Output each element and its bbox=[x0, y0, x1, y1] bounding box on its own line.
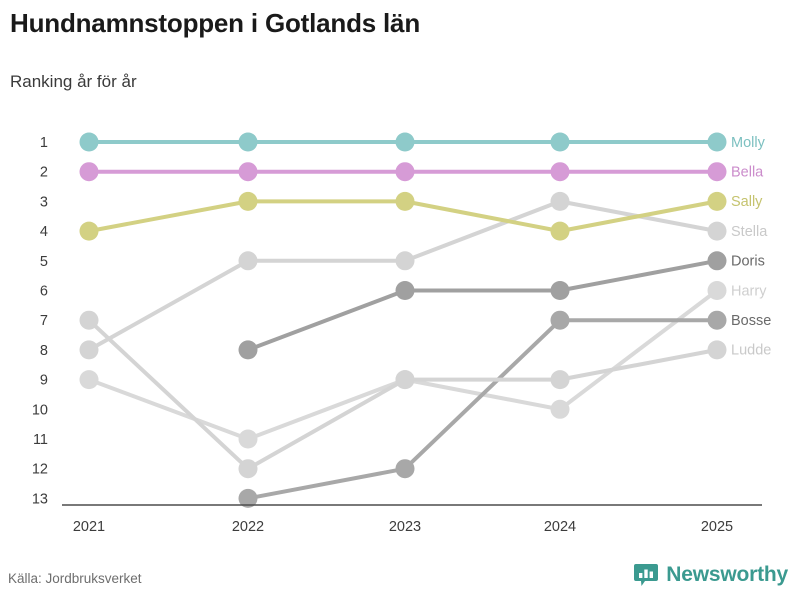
chart-canvas: 12345678910111213 StellaDorisHarryBosseL… bbox=[0, 0, 800, 600]
data-point-bella-2023[interactable] bbox=[396, 162, 415, 181]
data-point-sally-2021[interactable] bbox=[80, 222, 99, 241]
x-axis-tick-2023: 2023 bbox=[389, 519, 421, 535]
data-point-ludde-2025[interactable] bbox=[708, 340, 727, 359]
legend-label-stella[interactable]: Stella bbox=[731, 224, 768, 240]
data-point-bella-2025[interactable] bbox=[708, 162, 727, 181]
data-point-doris-2022[interactable] bbox=[239, 340, 258, 359]
x-axis-tick-2024: 2024 bbox=[544, 519, 576, 535]
y-axis-tick-3: 3 bbox=[40, 194, 48, 210]
y-axis-tick-6: 6 bbox=[40, 284, 48, 300]
data-point-sally-2022[interactable] bbox=[239, 192, 258, 211]
legend-label-bella[interactable]: Bella bbox=[731, 165, 764, 181]
series-line-harry bbox=[89, 291, 717, 440]
data-point-harry-2022[interactable] bbox=[239, 430, 258, 449]
data-point-ludde-2021[interactable] bbox=[80, 311, 99, 330]
bar-chart-bubble-icon bbox=[633, 562, 659, 588]
data-point-molly-2021[interactable] bbox=[80, 133, 99, 152]
legend-label-ludde[interactable]: Ludde bbox=[731, 343, 771, 359]
data-point-doris-2024[interactable] bbox=[551, 281, 570, 300]
data-point-doris-2025[interactable] bbox=[708, 251, 727, 270]
data-point-stella-2025[interactable] bbox=[708, 222, 727, 241]
y-axis-tick-5: 5 bbox=[40, 254, 48, 270]
y-axis-tick-9: 9 bbox=[40, 373, 48, 389]
legend-label-bosse[interactable]: Bosse bbox=[731, 313, 771, 329]
legend-label-doris[interactable]: Doris bbox=[731, 254, 765, 270]
data-point-sally-2024[interactable] bbox=[551, 222, 570, 241]
y-axis-tick-8: 8 bbox=[40, 343, 48, 359]
series-line-bosse bbox=[248, 320, 717, 498]
data-point-stella-2022[interactable] bbox=[239, 251, 258, 270]
legend-label-molly[interactable]: Molly bbox=[731, 135, 766, 151]
y-axis-tick-12: 12 bbox=[32, 462, 48, 478]
x-axis-tick-2021: 2021 bbox=[73, 519, 105, 535]
data-point-harry-2021[interactable] bbox=[80, 370, 99, 389]
legend-label-harry[interactable]: Harry bbox=[731, 283, 767, 299]
y-axis-tick-labels: 12345678910111213 bbox=[32, 135, 48, 507]
data-point-molly-2024[interactable] bbox=[551, 133, 570, 152]
data-point-bella-2022[interactable] bbox=[239, 162, 258, 181]
brand-name: Newsworthy bbox=[666, 563, 788, 587]
data-point-molly-2023[interactable] bbox=[396, 133, 415, 152]
y-axis-tick-10: 10 bbox=[32, 402, 48, 418]
data-point-molly-2022[interactable] bbox=[239, 133, 258, 152]
data-point-stella-2023[interactable] bbox=[396, 251, 415, 270]
data-point-bella-2024[interactable] bbox=[551, 162, 570, 181]
series-line-ludde bbox=[89, 320, 717, 469]
data-point-ludde-2022[interactable] bbox=[239, 459, 258, 478]
data-point-harry-2024[interactable] bbox=[551, 400, 570, 419]
data-point-doris-2023[interactable] bbox=[396, 281, 415, 300]
x-axis-tick-2022: 2022 bbox=[232, 519, 264, 535]
y-axis-tick-11: 11 bbox=[33, 432, 48, 448]
data-point-molly-2025[interactable] bbox=[708, 133, 727, 152]
series-line-doris bbox=[248, 261, 717, 350]
data-point-sally-2025[interactable] bbox=[708, 192, 727, 211]
y-axis-tick-1: 1 bbox=[40, 135, 48, 151]
y-axis-tick-7: 7 bbox=[40, 313, 48, 329]
y-axis-tick-13: 13 bbox=[32, 491, 48, 507]
data-point-ludde-2024[interactable] bbox=[551, 370, 570, 389]
series-line-stella bbox=[89, 201, 717, 350]
legend-label-sally[interactable]: Sally bbox=[731, 194, 763, 210]
x-axis-tick-2025: 2025 bbox=[701, 519, 733, 535]
source-note: Källa: Jordbruksverket bbox=[8, 571, 142, 586]
y-axis-tick-4: 4 bbox=[40, 224, 48, 240]
data-point-ludde-2023[interactable] bbox=[396, 370, 415, 389]
data-point-stella-2024[interactable] bbox=[551, 192, 570, 211]
data-point-bosse-2023[interactable] bbox=[396, 459, 415, 478]
newsworthy-logo: Newsworthy bbox=[633, 562, 788, 588]
data-point-sally-2023[interactable] bbox=[396, 192, 415, 211]
data-point-harry-2025[interactable] bbox=[708, 281, 727, 300]
data-point-bosse-2024[interactable] bbox=[551, 311, 570, 330]
y-axis-tick-2: 2 bbox=[40, 165, 48, 181]
data-point-bosse-2025[interactable] bbox=[708, 311, 727, 330]
data-point-stella-2021[interactable] bbox=[80, 340, 99, 359]
series-legend: StellaDorisHarryBosseLuddeMollyBellaSall… bbox=[731, 135, 771, 359]
data-point-bella-2021[interactable] bbox=[80, 162, 99, 181]
x-axis-tick-labels: 20212022202320242025 bbox=[73, 519, 733, 535]
ranking-line-chart: 12345678910111213 StellaDorisHarryBosseL… bbox=[0, 0, 800, 600]
